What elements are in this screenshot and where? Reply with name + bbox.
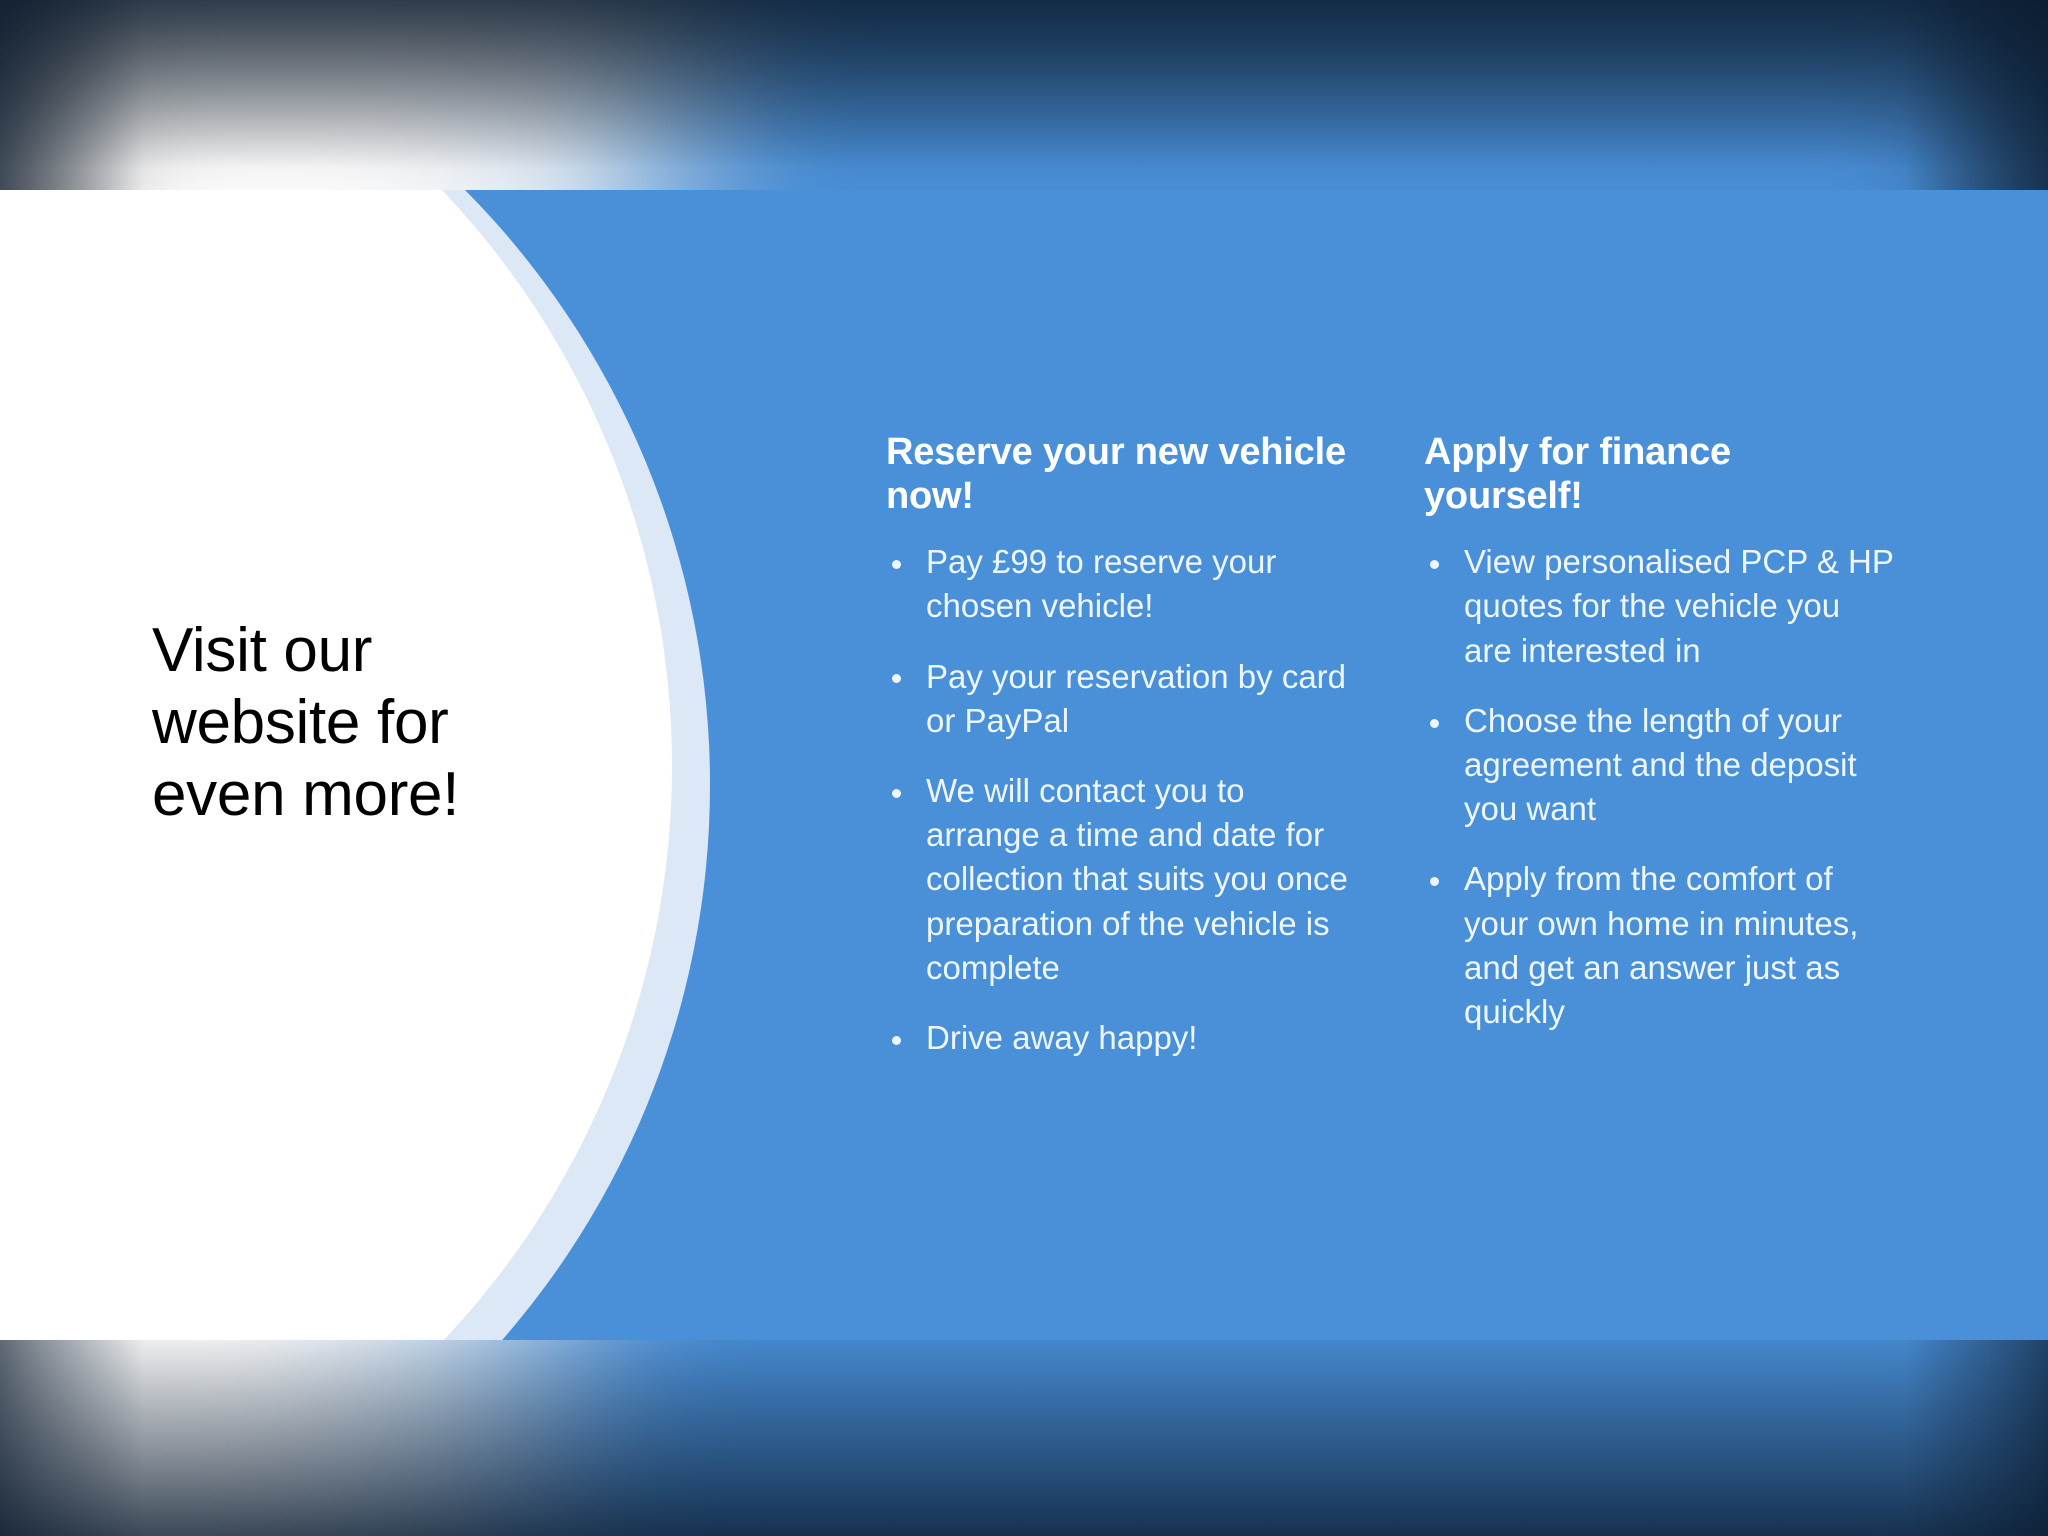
bullet-dot-icon bbox=[892, 674, 901, 683]
slide-canvas: Visit our website for even more! Reserve… bbox=[0, 190, 2048, 1340]
content-columns: Reserve your new vehicle now! Pay £99 to… bbox=[886, 430, 1996, 1060]
list-item-label: We will contact you to arrange a time an… bbox=[926, 769, 1366, 990]
list-item: Choose the length of your agreement and … bbox=[1424, 699, 1894, 832]
presentation-viewer: Visit our website for even more! Reserve… bbox=[0, 0, 2048, 1536]
bullet-dot-icon bbox=[892, 789, 901, 798]
bullet-dot-icon bbox=[1430, 719, 1439, 728]
bullet-dot-icon bbox=[1430, 877, 1439, 886]
list-item-label: Apply from the comfort of your own home … bbox=[1464, 857, 1894, 1034]
list-item: We will contact you to arrange a time an… bbox=[886, 769, 1366, 990]
column-heading-reserve: Reserve your new vehicle now! bbox=[886, 430, 1366, 518]
list-item-label: Pay your reservation by card or PayPal bbox=[926, 655, 1366, 743]
page-title: Visit our website for even more! bbox=[152, 615, 582, 831]
list-item-label: View personalised PCP & HP quotes for th… bbox=[1464, 540, 1894, 673]
bullet-dot-icon bbox=[892, 1036, 901, 1045]
column-reserve: Reserve your new vehicle now! Pay £99 to… bbox=[886, 430, 1366, 1060]
list-item-label: Drive away happy! bbox=[926, 1016, 1366, 1060]
list-item-label: Choose the length of your agreement and … bbox=[1464, 699, 1894, 832]
list-item: Pay your reservation by card or PayPal bbox=[886, 655, 1366, 743]
list-item: Pay £99 to reserve your chosen vehicle! bbox=[886, 540, 1366, 628]
bullet-dot-icon bbox=[1430, 560, 1439, 569]
bullet-list-reserve: Pay £99 to reserve your chosen vehicle! … bbox=[886, 540, 1366, 1060]
list-item-label: Pay £99 to reserve your chosen vehicle! bbox=[926, 540, 1366, 628]
list-item: Apply from the comfort of your own home … bbox=[1424, 857, 1894, 1034]
list-item: Drive away happy! bbox=[886, 1016, 1366, 1060]
list-item: View personalised PCP & HP quotes for th… bbox=[1424, 540, 1894, 673]
bullet-list-finance: View personalised PCP & HP quotes for th… bbox=[1424, 540, 1894, 1034]
bullet-dot-icon bbox=[892, 560, 901, 569]
column-finance: Apply for finance yourself! View persona… bbox=[1424, 430, 1894, 1060]
column-heading-finance: Apply for finance yourself! bbox=[1424, 430, 1894, 518]
